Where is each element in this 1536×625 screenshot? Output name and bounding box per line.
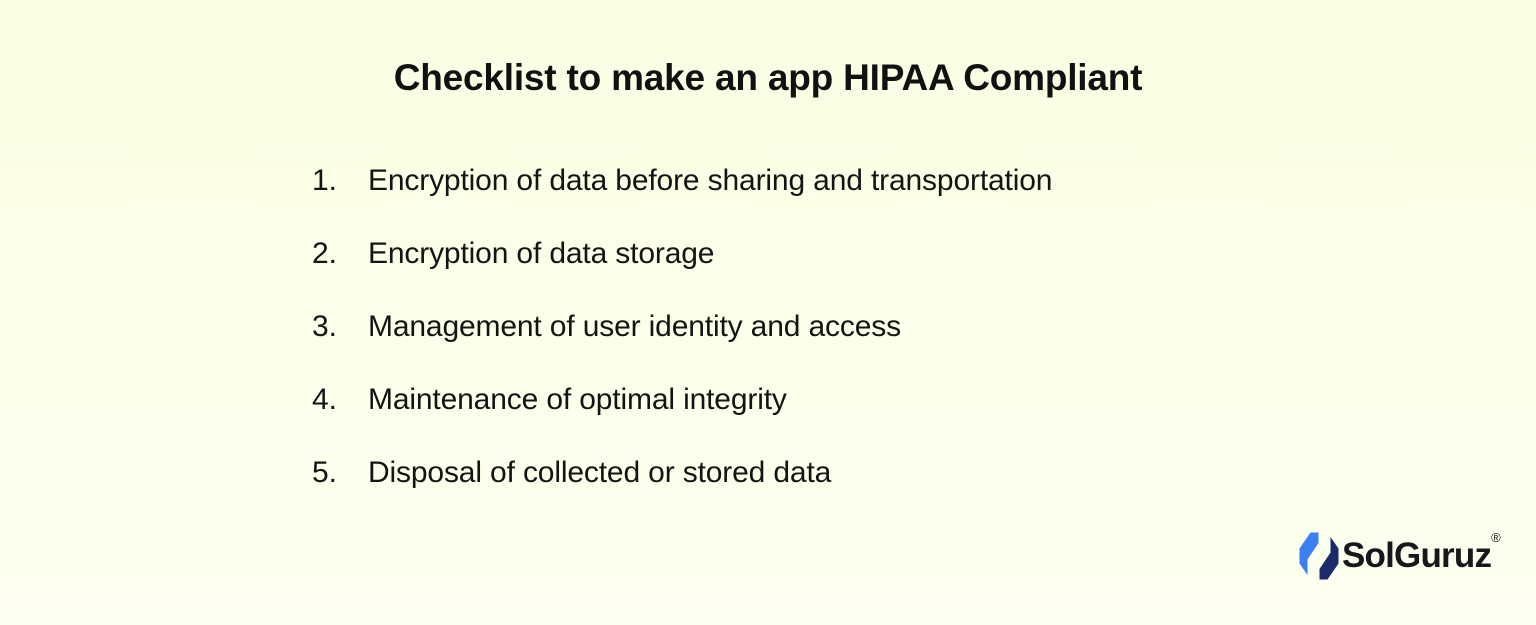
list-item: 3. Management of user identity and acces… <box>306 304 1306 377</box>
list-item-label: Management of user identity and access <box>368 304 901 350</box>
checklist: 1. Encryption of data before sharing and… <box>306 158 1306 523</box>
brand-logo: SolGuruz® <box>1298 528 1500 584</box>
registered-trademark-icon: ® <box>1491 530 1500 545</box>
list-item: 4. Maintenance of optimal integrity <box>306 377 1306 450</box>
logo-wordmark: SolGuruz® <box>1342 530 1500 582</box>
page-title: Checklist to make an app HIPAA Compliant <box>0 55 1536 101</box>
list-item: 2. Encryption of data storage <box>306 231 1306 304</box>
slide-canvas: Checklist to make an app HIPAA Compliant… <box>0 0 1536 625</box>
list-item-number: 4. <box>306 377 368 423</box>
list-item-number: 3. <box>306 304 368 350</box>
list-item: 1. Encryption of data before sharing and… <box>306 158 1306 231</box>
list-item-label: Encryption of data storage <box>368 231 714 277</box>
logo-wordmark-text: SolGuruz <box>1342 536 1491 575</box>
solguruz-s-mark-icon <box>1298 530 1340 582</box>
list-item-number: 1. <box>306 158 368 204</box>
list-item-label: Maintenance of optimal integrity <box>368 377 787 423</box>
list-item: 5. Disposal of collected or stored data <box>306 450 1306 523</box>
list-item-label: Disposal of collected or stored data <box>368 450 831 496</box>
list-item-number: 5. <box>306 450 368 496</box>
list-item-number: 2. <box>306 231 368 277</box>
list-item-label: Encryption of data before sharing and tr… <box>368 158 1052 204</box>
